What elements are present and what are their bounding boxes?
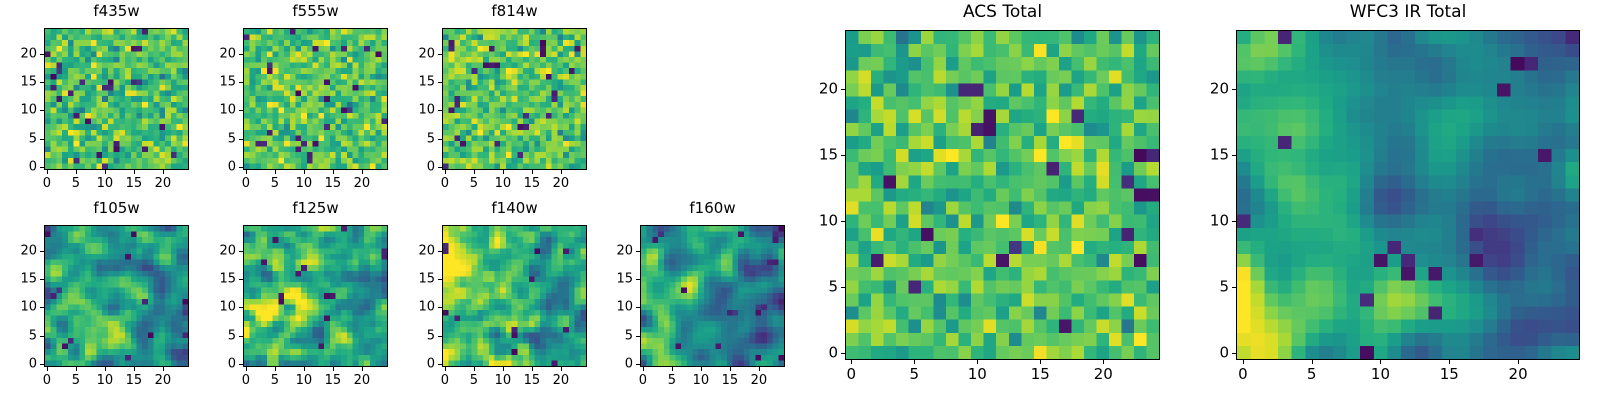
heatmap-axes-f160w: [640, 225, 785, 367]
y-tick-mark: [40, 139, 44, 140]
y-tick-label: 5: [402, 329, 435, 342]
y-tick-label: 5: [203, 132, 236, 145]
x-tick-mark: [76, 367, 77, 371]
y-tick-label: 0: [600, 358, 633, 371]
y-tick-mark: [841, 287, 845, 288]
x-tick-mark: [445, 367, 446, 371]
panel-f814w: f814w0510152005101520: [442, 4, 587, 194]
y-tick-mark: [239, 364, 243, 365]
x-tick-label: 5: [470, 177, 478, 190]
heatmap-image-f125w: [244, 226, 387, 366]
y-tick-label: 15: [402, 75, 435, 88]
y-tick-mark: [636, 251, 640, 252]
y-tick-mark: [636, 279, 640, 280]
x-tick-label: 5: [910, 367, 920, 382]
y-tick-mark: [438, 279, 442, 280]
y-tick-label: 0: [203, 358, 236, 371]
y-tick-mark: [40, 110, 44, 111]
y-tick-mark: [841, 89, 845, 90]
heatmap-image-f140w: [443, 226, 586, 366]
heatmap-image-f435w: [45, 29, 188, 169]
x-tick-mark: [532, 367, 533, 371]
x-tick-mark: [1380, 360, 1381, 364]
y-tick-label: 10: [1196, 214, 1229, 229]
y-tick-label: 5: [4, 329, 37, 342]
heatmap-image-f160w: [641, 226, 784, 366]
y-tick-mark: [841, 155, 845, 156]
panel-f160w: f160w0510152005101520: [640, 201, 785, 391]
x-tick-label: 20: [155, 374, 172, 387]
y-tick-mark: [239, 110, 243, 111]
x-tick-mark: [105, 170, 106, 174]
panel-title-f125w: f125w: [243, 201, 388, 216]
x-tick-label: 10: [495, 177, 512, 190]
y-tick-label: 15: [203, 75, 236, 88]
y-tick-label: 15: [1196, 148, 1229, 163]
x-tick-mark: [561, 367, 562, 371]
x-tick-label: 5: [668, 374, 676, 387]
heatmap-axes-acs-total: [845, 30, 1160, 360]
y-tick-mark: [40, 82, 44, 83]
x-tick-label: 10: [296, 374, 313, 387]
x-tick-mark: [1518, 360, 1519, 364]
x-tick-mark: [672, 367, 673, 371]
y-tick-label: 10: [402, 301, 435, 314]
y-tick-mark: [239, 167, 243, 168]
y-tick-label: 5: [402, 132, 435, 145]
y-tick-mark: [239, 279, 243, 280]
y-tick-label: 15: [203, 272, 236, 285]
x-tick-label: 15: [126, 177, 143, 190]
x-tick-label: 5: [72, 374, 80, 387]
y-tick-label: 10: [203, 301, 236, 314]
x-tick-label: 15: [524, 374, 541, 387]
x-tick-label: 0: [639, 374, 647, 387]
x-tick-mark: [304, 170, 305, 174]
x-tick-label: 15: [1031, 367, 1050, 382]
x-tick-mark: [851, 360, 852, 364]
x-tick-label: 5: [271, 374, 279, 387]
y-tick-mark: [438, 139, 442, 140]
heatmap-axes-f140w: [442, 225, 587, 367]
y-tick-mark: [239, 54, 243, 55]
heatmap-axes-f125w: [243, 225, 388, 367]
x-tick-mark: [333, 170, 334, 174]
panel-acs-total: ACS Total0510152005101520: [845, 4, 1160, 384]
x-tick-label: 5: [271, 177, 279, 190]
heatmap-axes-wfc3-ir-total: [1236, 30, 1580, 360]
x-tick-mark: [474, 170, 475, 174]
x-tick-label: 20: [553, 177, 570, 190]
x-tick-mark: [105, 367, 106, 371]
x-tick-label: 0: [242, 177, 250, 190]
y-tick-label: 10: [4, 104, 37, 117]
y-tick-mark: [1232, 221, 1236, 222]
x-tick-mark: [1040, 360, 1041, 364]
y-tick-mark: [438, 167, 442, 168]
x-tick-mark: [163, 170, 164, 174]
heatmap-image-wfc3-ir-total: [1237, 31, 1579, 359]
heatmap-image-acs-total: [846, 31, 1159, 359]
y-tick-mark: [1232, 155, 1236, 156]
x-tick-mark: [503, 170, 504, 174]
x-tick-mark: [134, 367, 135, 371]
y-tick-mark: [636, 364, 640, 365]
y-tick-mark: [1232, 353, 1236, 354]
x-tick-mark: [1103, 360, 1104, 364]
x-tick-mark: [1449, 360, 1450, 364]
y-tick-mark: [636, 307, 640, 308]
heatmap-axes-f105w: [44, 225, 189, 367]
y-tick-mark: [636, 336, 640, 337]
y-tick-label: 0: [203, 161, 236, 174]
y-tick-mark: [40, 251, 44, 252]
y-tick-label: 0: [1196, 346, 1229, 361]
y-tick-label: 15: [4, 272, 37, 285]
y-tick-label: 10: [402, 104, 435, 117]
x-tick-label: 10: [1371, 367, 1390, 382]
x-tick-label: 20: [354, 177, 371, 190]
x-tick-label: 10: [296, 177, 313, 190]
panel-title-f435w: f435w: [44, 4, 189, 19]
heatmap-image-f814w: [443, 29, 586, 169]
x-tick-mark: [163, 367, 164, 371]
panel-f140w: f140w0510152005101520: [442, 201, 587, 391]
heatmap-axes-f814w: [442, 28, 587, 170]
x-tick-mark: [275, 170, 276, 174]
x-tick-mark: [362, 367, 363, 371]
figure-canvas: f435w0510152005101520f555w05101520051015…: [0, 0, 1600, 400]
x-tick-label: 5: [72, 177, 80, 190]
x-tick-label: 20: [354, 374, 371, 387]
heatmap-axes-f435w: [44, 28, 189, 170]
y-tick-mark: [239, 336, 243, 337]
panel-f555w: f555w0510152005101520: [243, 4, 388, 194]
x-tick-mark: [1243, 360, 1244, 364]
panel-wfc3-ir-total: WFC3 IR Total0510152005101520: [1236, 4, 1580, 384]
y-tick-mark: [438, 307, 442, 308]
x-tick-mark: [246, 367, 247, 371]
panel-f435w: f435w0510152005101520: [44, 4, 189, 194]
panel-title-f140w: f140w: [442, 201, 587, 216]
x-tick-mark: [977, 360, 978, 364]
panel-title-wfc3-ir-total: WFC3 IR Total: [1236, 4, 1580, 21]
y-tick-label: 0: [4, 358, 37, 371]
y-tick-label: 15: [4, 75, 37, 88]
y-tick-label: 20: [402, 244, 435, 257]
x-tick-label: 15: [126, 374, 143, 387]
y-tick-mark: [40, 167, 44, 168]
y-tick-mark: [40, 336, 44, 337]
y-tick-label: 5: [4, 132, 37, 145]
x-tick-label: 0: [441, 177, 449, 190]
x-tick-label: 10: [693, 374, 710, 387]
x-tick-mark: [532, 170, 533, 174]
y-tick-mark: [40, 307, 44, 308]
x-tick-mark: [445, 170, 446, 174]
y-tick-label: 0: [402, 161, 435, 174]
x-tick-mark: [246, 170, 247, 174]
y-tick-label: 10: [203, 104, 236, 117]
heatmap-image-f555w: [244, 29, 387, 169]
y-tick-label: 15: [402, 272, 435, 285]
x-tick-label: 15: [524, 177, 541, 190]
x-tick-label: 15: [1440, 367, 1459, 382]
y-tick-mark: [40, 279, 44, 280]
x-tick-mark: [76, 170, 77, 174]
x-tick-label: 0: [847, 367, 857, 382]
heatmap-axes-f555w: [243, 28, 388, 170]
x-tick-label: 0: [43, 374, 51, 387]
panel-title-acs-total: ACS Total: [845, 4, 1160, 21]
y-tick-label: 20: [402, 47, 435, 60]
y-tick-label: 20: [4, 47, 37, 60]
x-tick-label: 10: [97, 374, 114, 387]
heatmap-image-f105w: [45, 226, 188, 366]
y-tick-label: 20: [203, 244, 236, 257]
x-tick-mark: [304, 367, 305, 371]
x-tick-mark: [561, 170, 562, 174]
y-tick-mark: [1232, 89, 1236, 90]
x-tick-label: 15: [325, 177, 342, 190]
x-tick-label: 5: [470, 374, 478, 387]
y-tick-mark: [1232, 287, 1236, 288]
y-tick-mark: [438, 336, 442, 337]
x-tick-label: 20: [1094, 367, 1113, 382]
y-tick-label: 15: [805, 148, 838, 163]
y-tick-label: 20: [203, 47, 236, 60]
x-tick-mark: [47, 367, 48, 371]
panel-title-f105w: f105w: [44, 201, 189, 216]
y-tick-label: 0: [805, 346, 838, 361]
x-tick-label: 20: [553, 374, 570, 387]
y-tick-label: 5: [805, 280, 838, 295]
x-tick-mark: [362, 170, 363, 174]
y-tick-mark: [239, 251, 243, 252]
x-tick-label: 15: [325, 374, 342, 387]
y-tick-label: 0: [402, 358, 435, 371]
x-tick-label: 20: [1509, 367, 1528, 382]
x-tick-label: 0: [1238, 367, 1248, 382]
x-tick-label: 10: [968, 367, 987, 382]
x-tick-mark: [333, 367, 334, 371]
x-tick-label: 20: [751, 374, 768, 387]
y-tick-label: 5: [203, 329, 236, 342]
x-tick-mark: [134, 170, 135, 174]
y-tick-label: 20: [600, 244, 633, 257]
y-tick-mark: [40, 54, 44, 55]
x-tick-mark: [914, 360, 915, 364]
x-tick-label: 20: [155, 177, 172, 190]
x-tick-mark: [643, 367, 644, 371]
x-tick-label: 0: [43, 177, 51, 190]
y-tick-mark: [438, 251, 442, 252]
x-tick-mark: [701, 367, 702, 371]
y-tick-mark: [438, 54, 442, 55]
x-tick-label: 15: [722, 374, 739, 387]
x-tick-label: 0: [441, 374, 449, 387]
x-tick-mark: [275, 367, 276, 371]
x-tick-label: 0: [242, 374, 250, 387]
y-tick-label: 10: [805, 214, 838, 229]
x-tick-label: 10: [97, 177, 114, 190]
panel-title-f160w: f160w: [640, 201, 785, 216]
y-tick-mark: [438, 82, 442, 83]
panel-title-f814w: f814w: [442, 4, 587, 19]
panel-title-f555w: f555w: [243, 4, 388, 19]
panel-f105w: f105w0510152005101520: [44, 201, 189, 391]
y-tick-mark: [438, 110, 442, 111]
y-tick-label: 20: [805, 82, 838, 97]
x-tick-label: 5: [1307, 367, 1317, 382]
x-tick-label: 10: [495, 374, 512, 387]
y-tick-label: 15: [600, 272, 633, 285]
y-tick-mark: [40, 364, 44, 365]
y-tick-mark: [239, 307, 243, 308]
y-tick-mark: [841, 353, 845, 354]
y-tick-mark: [239, 139, 243, 140]
y-tick-label: 0: [4, 161, 37, 174]
x-tick-mark: [474, 367, 475, 371]
y-tick-label: 20: [4, 244, 37, 257]
y-tick-mark: [841, 221, 845, 222]
y-tick-label: 10: [4, 301, 37, 314]
x-tick-mark: [730, 367, 731, 371]
y-tick-label: 5: [600, 329, 633, 342]
x-tick-mark: [503, 367, 504, 371]
panel-f125w: f125w0510152005101520: [243, 201, 388, 391]
y-tick-label: 5: [1196, 280, 1229, 295]
y-tick-label: 20: [1196, 82, 1229, 97]
y-tick-mark: [438, 364, 442, 365]
x-tick-mark: [759, 367, 760, 371]
y-tick-label: 10: [600, 301, 633, 314]
y-tick-mark: [239, 82, 243, 83]
x-tick-mark: [1312, 360, 1313, 364]
x-tick-mark: [47, 170, 48, 174]
